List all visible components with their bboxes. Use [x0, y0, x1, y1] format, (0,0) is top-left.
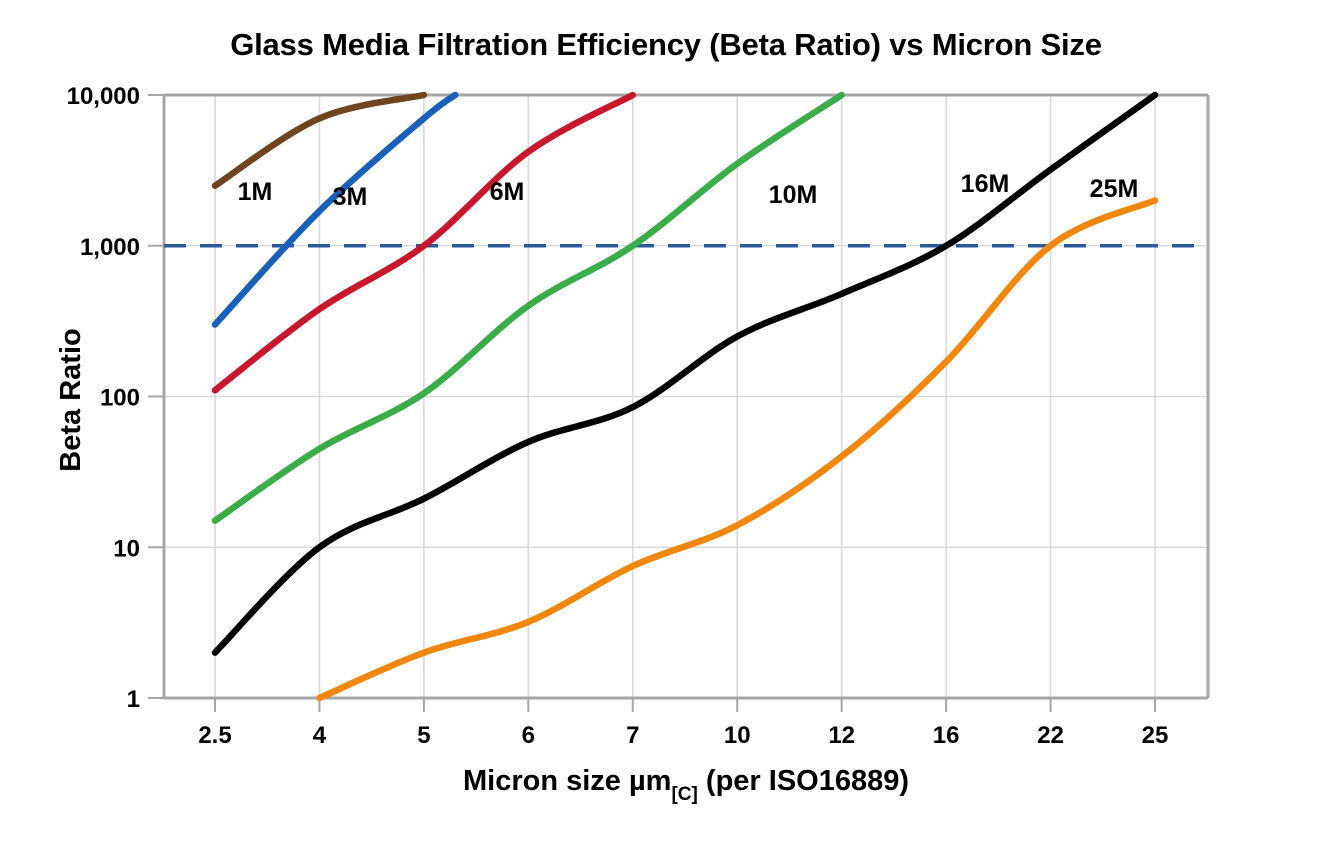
- y-axis-title: Beta Ratio: [55, 328, 87, 471]
- y-tick-label: 1: [127, 686, 140, 713]
- x-tick-label: 25: [1142, 722, 1169, 749]
- x-tick-label: 2.5: [198, 722, 231, 749]
- y-tick-label: 10: [113, 535, 140, 562]
- x-tick-label: 5: [417, 722, 430, 749]
- x-tick-label: 6: [522, 722, 535, 749]
- x-axis-title-subscript: [C]: [671, 784, 697, 805]
- chart-background: [0, 0, 1332, 842]
- x-axis-title-suffix: (per ISO16889): [698, 765, 909, 797]
- series-label-10m: 10M: [769, 181, 818, 209]
- x-tick-label: 22: [1037, 722, 1064, 749]
- series-label-6m: 6M: [490, 178, 525, 206]
- x-tick-label: 10: [724, 722, 751, 749]
- x-tick-label: 12: [828, 722, 855, 749]
- series-label-3m: 3M: [333, 183, 368, 211]
- x-axis-title-main: Micron size µm: [463, 765, 671, 797]
- page-title: Glass Media Filtration Efficiency (Beta …: [230, 27, 1102, 62]
- series-label-16m: 16M: [961, 170, 1010, 198]
- y-tick-label: 1,000: [80, 234, 140, 261]
- series-label-1m: 1M: [238, 178, 273, 206]
- chart-container: Glass Media Filtration Efficiency (Beta …: [0, 0, 1332, 842]
- x-tick-label: 7: [626, 722, 639, 749]
- y-tick-label: 100: [100, 385, 140, 412]
- y-tick-label: 10,000: [67, 83, 140, 110]
- series-label-25m: 25M: [1090, 175, 1139, 203]
- x-tick-label: 16: [933, 722, 960, 749]
- beta-ratio-line-chart: Glass Media Filtration Efficiency (Beta …: [0, 0, 1332, 842]
- x-tick-label: 4: [313, 722, 327, 749]
